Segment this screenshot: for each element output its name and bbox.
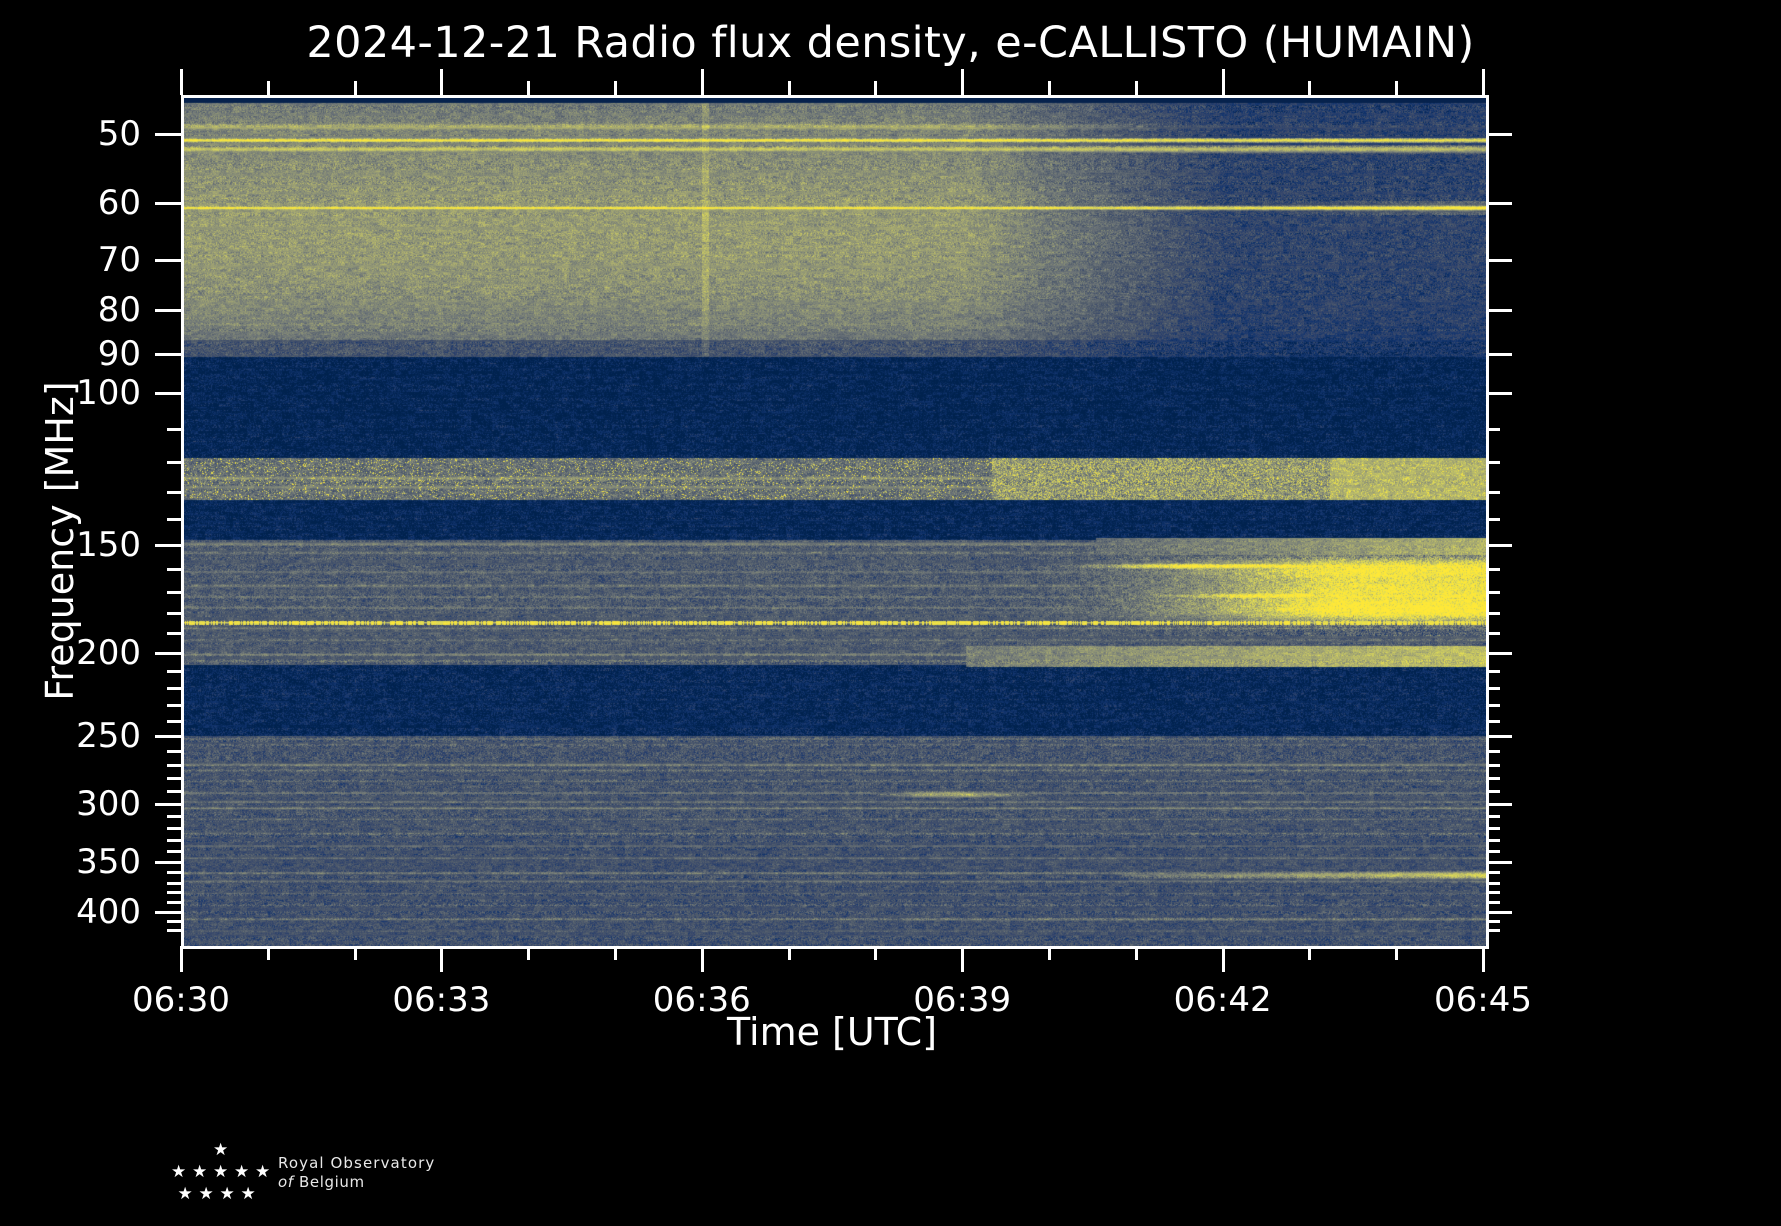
y-tick-major-right [1486, 133, 1512, 136]
y-tick-minor-right [1486, 871, 1500, 874]
x-tick-minor-top [1048, 81, 1051, 95]
x-tick-minor [1308, 946, 1311, 960]
star-icon: ★ [192, 1164, 207, 1181]
x-tick-major-top [1482, 69, 1485, 95]
x-tick-minor-top [1395, 81, 1398, 95]
logo-country-name: Belgium [299, 1173, 365, 1191]
y-tick-minor [167, 891, 181, 894]
x-tick-minor [614, 946, 617, 960]
y-tick-major [155, 861, 181, 864]
royal-observatory-logo: ★★★★★★★★★★ Royal Observatory of Belgium [178, 1142, 435, 1204]
y-tick-minor [167, 632, 181, 635]
star-icon: ★ [199, 1186, 214, 1203]
y-tick-minor-right [1486, 827, 1500, 830]
y-tick-minor [167, 790, 181, 793]
y-tick-label: 300 [0, 784, 141, 824]
x-tick-minor [1135, 946, 1138, 960]
star-icon: ★ [255, 1164, 270, 1181]
x-tick-major [701, 946, 704, 972]
x-tick-major [1222, 946, 1225, 972]
y-tick-minor-right [1486, 790, 1500, 793]
y-tick-label: 350 [0, 842, 141, 882]
eu-stars-icon: ★★★★★★★★★★ [178, 1142, 264, 1204]
y-tick-major-right [1486, 392, 1512, 395]
star-icon: ★ [213, 1164, 228, 1181]
y-tick-minor [167, 920, 181, 923]
y-tick-minor-right [1486, 612, 1500, 615]
y-tick-minor [167, 568, 181, 571]
x-tick-major-top [961, 69, 964, 95]
y-tick-minor-right [1486, 591, 1500, 594]
y-tick-major [155, 652, 181, 655]
y-tick-major-right [1486, 861, 1512, 864]
y-tick-major-right [1486, 309, 1512, 312]
y-tick-minor [167, 901, 181, 904]
y-tick-minor [167, 518, 181, 521]
y-tick-minor-right [1486, 720, 1500, 723]
y-tick-minor [167, 815, 181, 818]
y-tick-minor [167, 929, 181, 932]
figure-canvas: 2024-12-21 Radio flux density, e-CALLIST… [0, 0, 1781, 1226]
y-tick-minor [167, 850, 181, 853]
spectrogram-image [184, 98, 1486, 946]
y-tick-major-right [1486, 202, 1512, 205]
y-tick-minor [167, 428, 181, 431]
y-tick-minor-right [1486, 882, 1500, 885]
x-tick-minor-top [1308, 81, 1311, 95]
y-tick-label: 80 [0, 290, 141, 330]
logo-text: Royal Observatory of Belgium [278, 1154, 435, 1192]
y-tick-minor [167, 704, 181, 707]
y-tick-minor [167, 461, 181, 464]
x-tick-minor-top [614, 81, 617, 95]
y-tick-minor-right [1486, 764, 1500, 767]
x-tick-minor-top [788, 81, 791, 95]
spectrogram-plot-area [181, 95, 1489, 949]
y-tick-minor [167, 491, 181, 494]
star-icon: ★ [213, 1142, 228, 1159]
star-icon: ★ [171, 1164, 186, 1181]
y-tick-minor-right [1486, 839, 1500, 842]
x-tick-minor [527, 946, 530, 960]
x-tick-minor [267, 946, 270, 960]
y-tick-label: 100 [0, 373, 141, 413]
x-tick-minor [874, 946, 877, 960]
star-icon: ★ [220, 1186, 235, 1203]
y-tick-label: 60 [0, 183, 141, 223]
y-tick-major [155, 309, 181, 312]
y-tick-minor-right [1486, 518, 1500, 521]
x-tick-minor-top [1135, 81, 1138, 95]
x-tick-major [180, 946, 183, 972]
x-tick-label: 06:36 [653, 980, 751, 1020]
x-tick-major-top [701, 69, 704, 95]
y-tick-major-right [1486, 735, 1512, 738]
x-tick-label: 06:42 [1174, 980, 1272, 1020]
x-tick-major [961, 946, 964, 972]
y-tick-minor [167, 591, 181, 594]
x-axis-title: Time [UTC] [181, 1010, 1483, 1054]
y-tick-label: 50 [0, 114, 141, 154]
star-icon: ★ [178, 1186, 193, 1203]
logo-of-word: of [278, 1173, 294, 1191]
y-tick-minor [167, 687, 181, 690]
y-tick-major [155, 735, 181, 738]
x-tick-major-top [1222, 69, 1225, 95]
y-tick-label: 150 [0, 525, 141, 565]
y-tick-major [155, 392, 181, 395]
y-tick-minor-right [1486, 750, 1500, 753]
y-tick-label: 200 [0, 633, 141, 673]
y-tick-minor [167, 827, 181, 830]
y-tick-minor-right [1486, 687, 1500, 690]
x-tick-major-top [440, 69, 443, 95]
y-tick-major-right [1486, 544, 1512, 547]
y-tick-minor [167, 750, 181, 753]
y-tick-minor-right [1486, 929, 1500, 932]
y-tick-major-right [1486, 911, 1512, 914]
x-tick-label: 06:45 [1434, 980, 1532, 1020]
x-tick-minor [1048, 946, 1051, 960]
y-tick-major [155, 259, 181, 262]
y-tick-label: 400 [0, 892, 141, 932]
y-tick-major-right [1486, 803, 1512, 806]
y-tick-major-right [1486, 259, 1512, 262]
x-tick-minor-top [354, 81, 357, 95]
y-tick-minor [167, 764, 181, 767]
y-tick-minor [167, 777, 181, 780]
x-tick-minor-top [267, 81, 270, 95]
x-tick-minor-top [874, 81, 877, 95]
y-tick-minor-right [1486, 491, 1500, 494]
star-icon: ★ [234, 1164, 249, 1181]
y-tick-minor-right [1486, 815, 1500, 818]
x-tick-major [440, 946, 443, 972]
y-tick-minor-right [1486, 850, 1500, 853]
x-tick-minor-top [527, 81, 530, 95]
y-tick-major [155, 911, 181, 914]
x-tick-minor [1395, 946, 1398, 960]
x-tick-major [1482, 946, 1485, 972]
y-tick-minor-right [1486, 891, 1500, 894]
y-tick-label: 250 [0, 716, 141, 756]
y-tick-label: 90 [0, 334, 141, 374]
y-tick-minor-right [1486, 568, 1500, 571]
y-tick-minor-right [1486, 704, 1500, 707]
x-tick-label: 06:33 [392, 980, 490, 1020]
y-tick-major [155, 353, 181, 356]
y-tick-label: 70 [0, 240, 141, 280]
y-tick-minor [167, 720, 181, 723]
star-icon: ★ [241, 1186, 256, 1203]
y-tick-major [155, 133, 181, 136]
y-tick-minor-right [1486, 428, 1500, 431]
x-tick-minor [354, 946, 357, 960]
y-tick-minor-right [1486, 901, 1500, 904]
page-title: 2024-12-21 Radio flux density, e-CALLIST… [0, 18, 1781, 68]
x-tick-major-top [180, 69, 183, 95]
y-tick-minor-right [1486, 777, 1500, 780]
logo-country-line: of Belgium [278, 1173, 435, 1192]
y-tick-minor [167, 839, 181, 842]
y-tick-minor [167, 871, 181, 874]
y-tick-minor-right [1486, 632, 1500, 635]
y-tick-minor [167, 612, 181, 615]
y-tick-major [155, 202, 181, 205]
y-tick-minor [167, 882, 181, 885]
y-tick-major-right [1486, 353, 1512, 356]
y-tick-major [155, 803, 181, 806]
logo-organisation-name: Royal Observatory [278, 1154, 435, 1173]
x-tick-label: 06:39 [913, 980, 1011, 1020]
y-tick-major [155, 544, 181, 547]
y-tick-minor-right [1486, 920, 1500, 923]
x-tick-label: 06:30 [132, 980, 230, 1020]
y-tick-minor [167, 670, 181, 673]
y-tick-minor-right [1486, 461, 1500, 464]
y-tick-major-right [1486, 652, 1512, 655]
y-tick-minor-right [1486, 670, 1500, 673]
x-tick-minor [788, 946, 791, 960]
